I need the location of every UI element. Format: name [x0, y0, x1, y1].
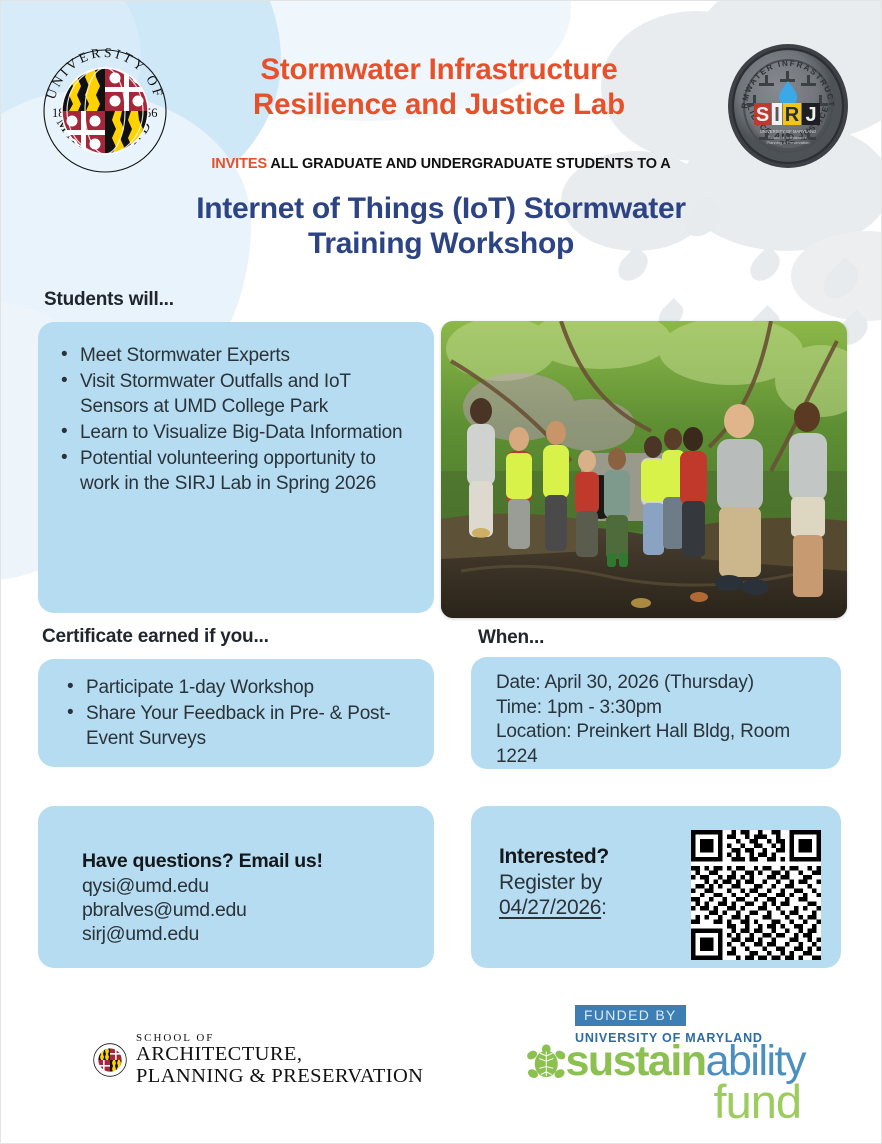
maryland-flag-globe	[62, 68, 148, 154]
contact-email[interactable]: qysi@umd.edu	[82, 874, 434, 898]
sirj-letters-blocks: S I R J	[754, 103, 820, 126]
list-item: Visit Stormwater Outfalls and IoT Sensor…	[80, 370, 420, 419]
svg-text:S: S	[756, 104, 769, 126]
register-card: Interested? Register by 04/27/2026:	[471, 806, 841, 968]
invite-prefix: INVITES	[211, 156, 267, 172]
certificate-card: Participate 1-day Workshop Share Your Fe…	[38, 659, 434, 767]
students-heading: Students will...	[44, 289, 174, 311]
flyer-page: UNIVERSITY OF MARYLAND 18 56	[0, 0, 882, 1144]
certificate-bullet-list: Participate 1-day Workshop Share Your Fe…	[38, 676, 434, 751]
svg-text:UNIVERSITY OF MARYLAND: UNIVERSITY OF MARYLAND	[760, 129, 816, 134]
lab-title-line2: Resilience and Justice Lab	[179, 88, 699, 123]
students-card: Meet Stormwater Experts Visit Stormwater…	[38, 322, 434, 613]
sapp-line1: ARCHITECTURE,	[136, 1044, 423, 1065]
students-bullet-list: Meet Stormwater Experts Visit Stormwater…	[38, 344, 434, 496]
sus-word-fund: fund	[566, 1081, 805, 1123]
workshop-title-line1: Internet of Things (IoT) Stormwater	[91, 191, 791, 226]
sus-word-green: sustain	[566, 1037, 706, 1085]
qr-code[interactable]	[691, 830, 821, 960]
contact-heading: Have questions? Email us!	[82, 850, 434, 873]
register-deadline: 04/27/2026	[499, 896, 601, 919]
certificate-heading: Certificate earned if you...	[42, 626, 269, 648]
sapp-line2: PLANNING & PRESERVATION	[136, 1066, 423, 1087]
contact-email[interactable]: pbralves@umd.edu	[82, 898, 434, 922]
when-date: Date: April 30, 2026 (Thursday)	[496, 671, 827, 696]
sapp-logo: SCHOOL OF ARCHITECTURE, PLANNING & PRESE…	[93, 1033, 423, 1087]
svg-text:Planning & Preservation: Planning & Preservation	[767, 140, 810, 145]
when-heading: When...	[478, 627, 544, 649]
when-location: Location: Preinkert Hall Bldg, Room 1224	[496, 720, 827, 769]
list-item: Learn to Visualize Big-Data Information	[80, 421, 420, 445]
workshop-title-line2: Training Workshop	[91, 226, 791, 261]
svg-text:I: I	[774, 104, 780, 126]
lab-title: Stormwater Infrastructure Resilience and…	[179, 53, 699, 123]
lab-title-line1: Stormwater Infrastructure	[179, 53, 699, 88]
group-photo	[441, 321, 847, 618]
flyer-footer: SCHOOL OF ARCHITECTURE, PLANNING & PRESE…	[1, 1001, 882, 1131]
cloud-shape	[791, 231, 881, 321]
umd-small-seal-icon	[93, 1040, 127, 1080]
invite-line: INVITES ALL GRADUATE AND UNDERGRADUATE S…	[121, 156, 761, 172]
when-card: Date: April 30, 2026 (Thursday) Time: 1p…	[471, 657, 841, 769]
sirj-lab-logo: STORMWATER INFRASTRUCTURE RESILIENCE AND…	[727, 43, 849, 169]
funded-by-badge: FUNDED BY	[575, 1005, 686, 1026]
sustainability-fund-logo: FUNDED BY UNIVERSITY OF MARYLAND	[525, 1005, 805, 1123]
svg-text:R: R	[785, 104, 800, 126]
list-item: Meet Stormwater Experts	[80, 344, 420, 368]
contact-card: Have questions? Email us! qysi@umd.edu p…	[38, 806, 434, 968]
turtle-icon	[525, 1041, 568, 1085]
when-time: Time: 1pm - 3:30pm	[496, 696, 827, 721]
workshop-title: Internet of Things (IoT) Stormwater Trai…	[91, 191, 791, 261]
flyer-header: UNIVERSITY OF MARYLAND 18 56	[1, 1, 881, 183]
contact-email[interactable]: sirj@umd.edu	[82, 922, 434, 946]
register-colon: :	[601, 896, 607, 919]
list-item: Participate 1-day Workshop	[86, 676, 420, 700]
list-item: Share Your Feedback in Pre- & Post-Event…	[86, 702, 420, 751]
svg-text:J: J	[805, 104, 816, 126]
invite-rest: ALL GRADUATE AND UNDERGRADUATE STUDENTS …	[267, 156, 671, 172]
list-item: Potential volunteering opportunity to wo…	[80, 447, 420, 496]
raindrop-icon	[817, 257, 865, 305]
